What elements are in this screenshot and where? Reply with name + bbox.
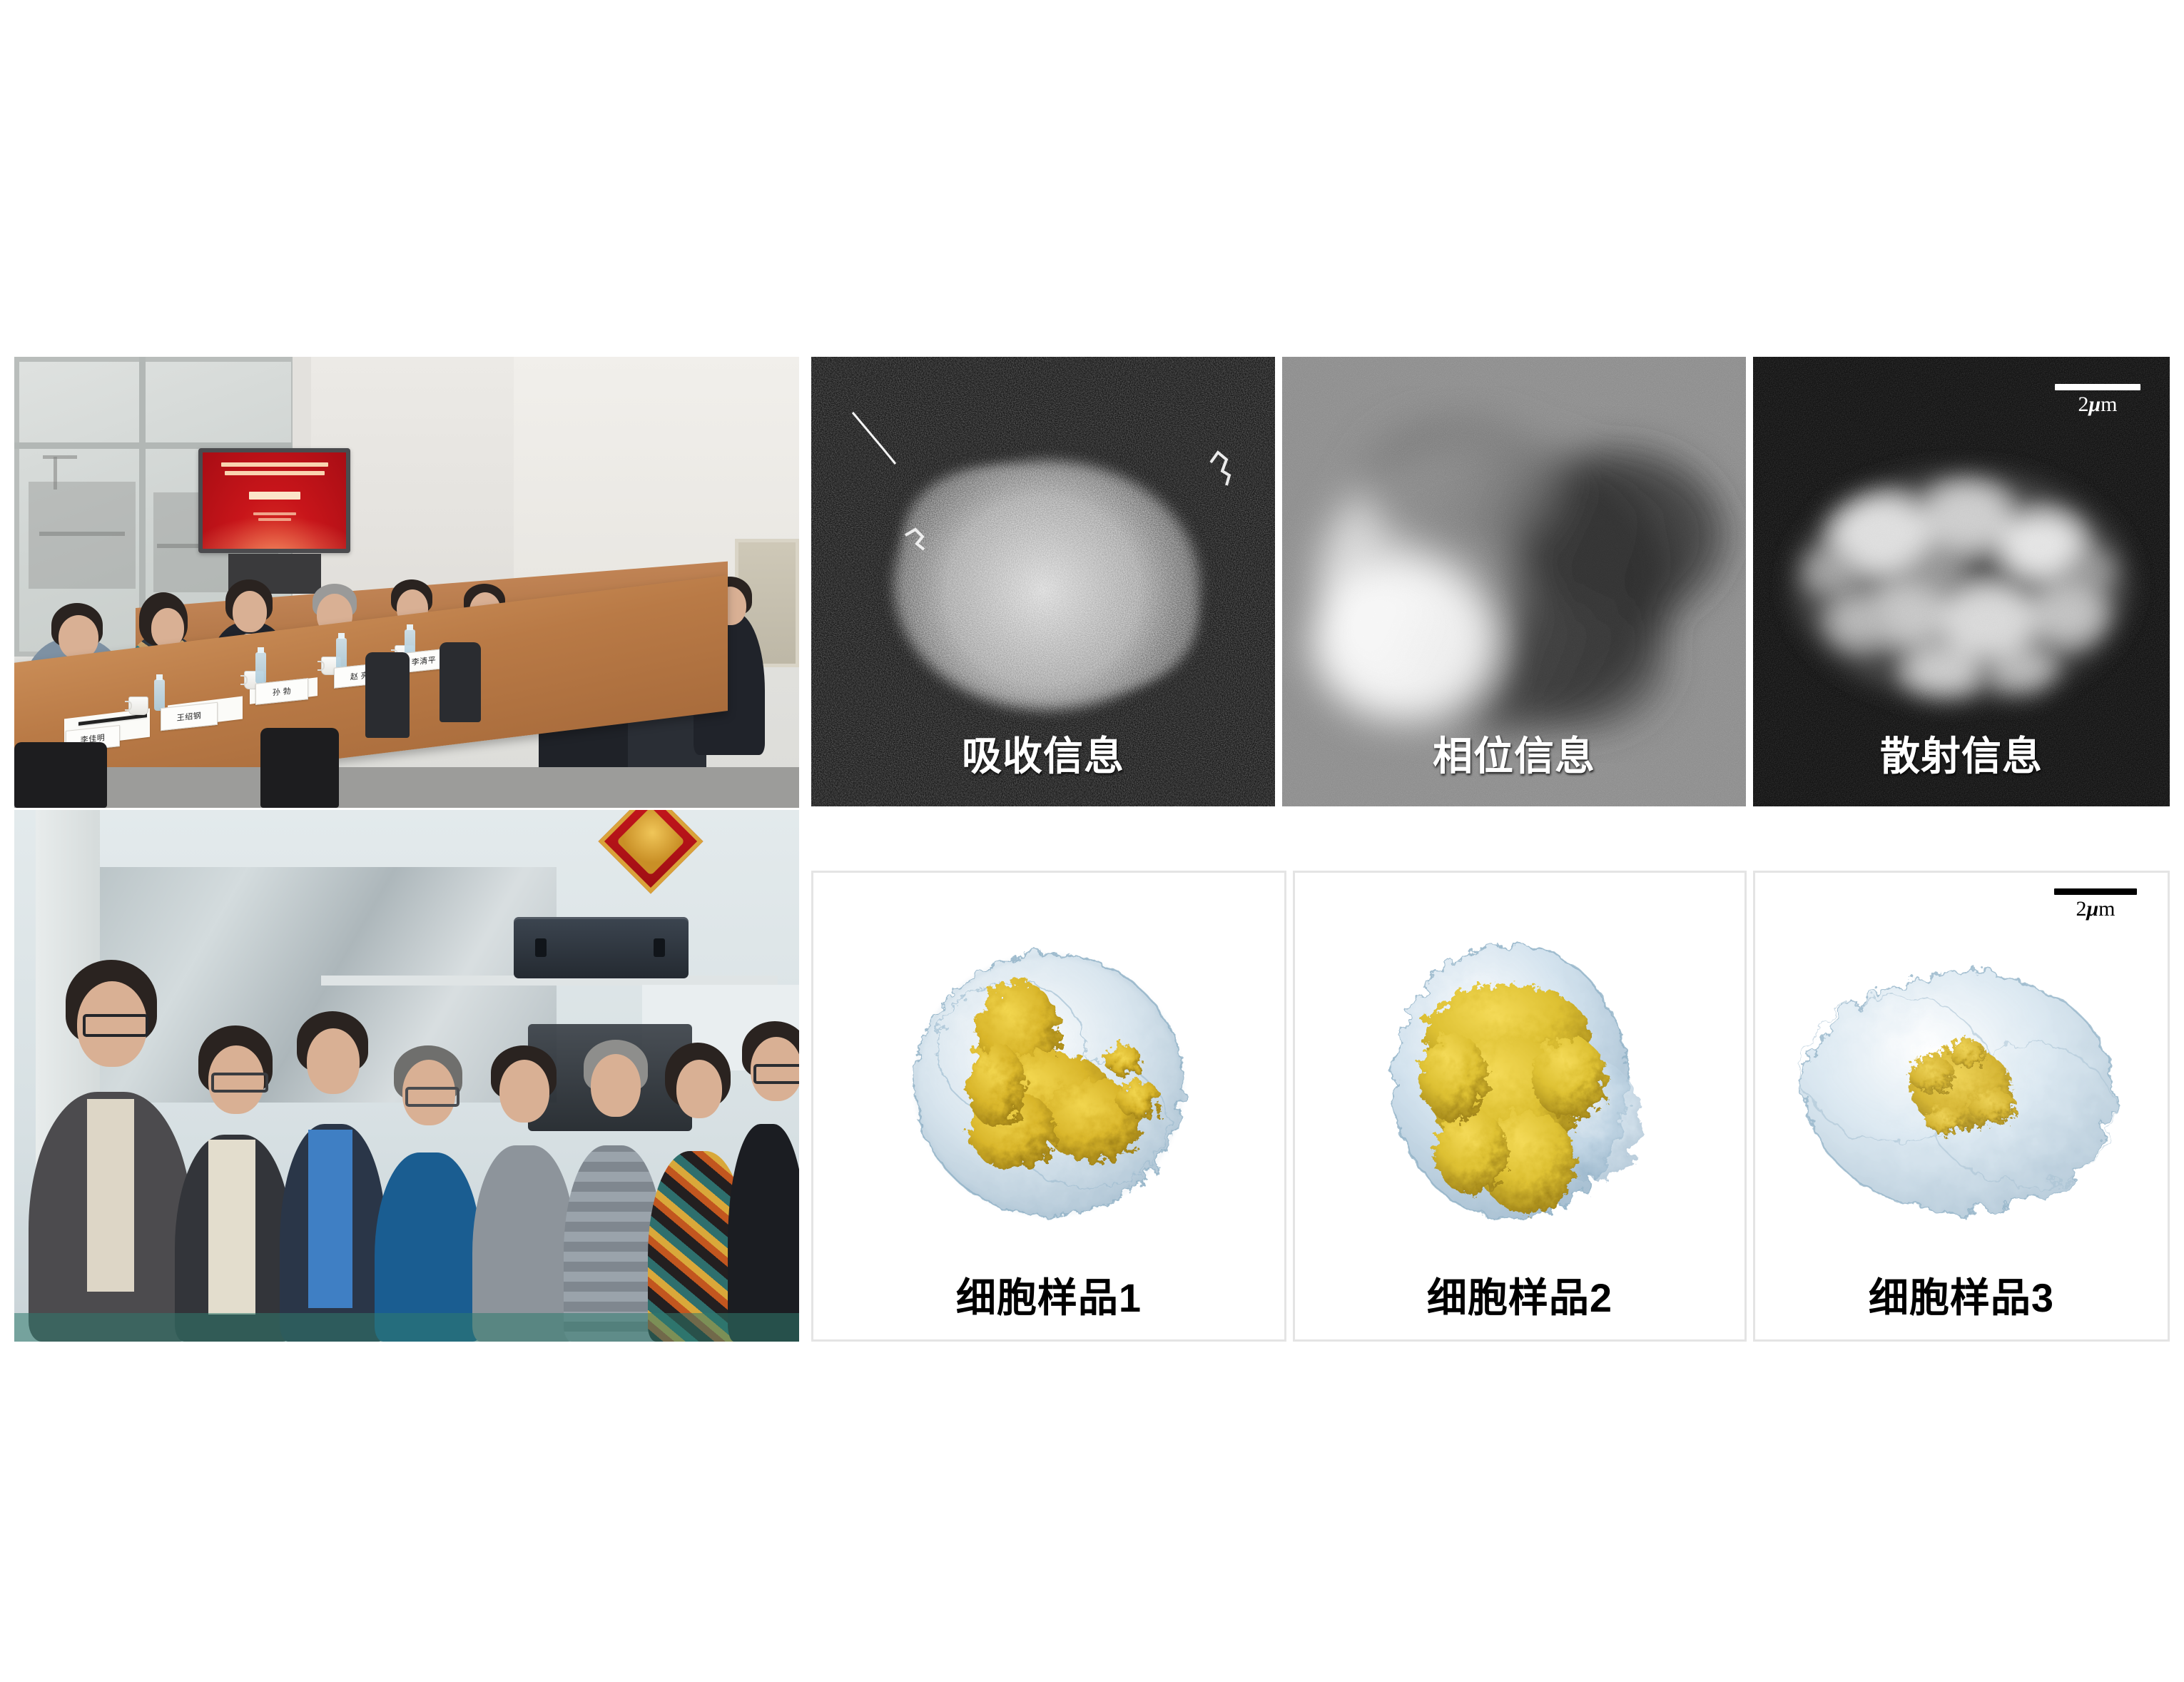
floor — [14, 767, 799, 808]
panel-cell-sample-1: 细胞样品1 — [811, 871, 1286, 1342]
equipment-case — [514, 917, 689, 978]
panel-label-phase: 相位信息 — [1282, 724, 1746, 782]
panel-absorption: 吸收信息 — [811, 357, 1275, 806]
lab-floor — [14, 1313, 799, 1342]
eyeglasses — [211, 1073, 268, 1093]
panel-label-cell-2: 细胞样品2 — [1295, 1266, 1744, 1324]
water-bottle — [154, 679, 165, 711]
scale-bar-value: 2 — [2078, 392, 2088, 416]
water-bottle — [255, 652, 266, 684]
panel-phase: 相位信息 — [1282, 357, 1746, 806]
office-chair — [260, 728, 339, 808]
scale-bar-unit: m — [2101, 392, 2117, 416]
office-chair — [365, 652, 410, 738]
water-bottle — [336, 638, 347, 669]
scale-bar-value: 2 — [2076, 897, 2086, 921]
scale-bar-line — [2055, 384, 2140, 390]
scale-bar-label: 2μm — [2042, 898, 2149, 921]
tea-cup — [128, 696, 148, 715]
panel-cell-sample-2: 细胞样品2 — [1293, 871, 1747, 1342]
panel-scattering: 2μm 散射信息 — [1753, 357, 2170, 806]
office-chair — [440, 642, 481, 722]
slide-subtext-line2 — [258, 518, 291, 521]
scale-bar-line — [2054, 888, 2137, 895]
slide-red-background — [203, 452, 346, 549]
presentation-screen — [198, 448, 350, 553]
eyeglasses — [405, 1087, 459, 1107]
photo-meeting-room: 王绍钢 李佳明 孙 勃 赵 亮 李清平 — [14, 357, 799, 808]
office-chair — [14, 742, 107, 808]
scale-bar-label: 2μm — [2044, 393, 2151, 416]
scale-bar-top: 2μm — [2044, 384, 2151, 416]
scale-bar-unit: m — [2098, 897, 2115, 921]
slide-subtext-line1 — [253, 512, 296, 515]
scale-bar-mu: μ — [2086, 897, 2098, 921]
eyeglasses — [753, 1064, 799, 1084]
slide-heading — [249, 492, 300, 500]
panel-label-cell-3: 细胞样品3 — [1755, 1266, 2168, 1324]
eyeglasses — [83, 1014, 148, 1037]
photo-lab-group — [14, 810, 799, 1342]
figure-canvas: 王绍钢 李佳明 孙 勃 赵 亮 李清平 — [0, 0, 2184, 1682]
slide-title-line2 — [225, 471, 325, 475]
scale-bar-bottom: 2μm — [2042, 888, 2149, 921]
slide-glow — [203, 510, 346, 549]
panel-label-scattering: 散射信息 — [1753, 724, 2170, 782]
panel-label-cell-1: 细胞样品1 — [813, 1266, 1284, 1324]
panel-cell-sample-3: 2μm 细胞样品3 — [1753, 871, 2170, 1342]
slide-title-line1 — [221, 462, 328, 467]
panel-label-absorption: 吸收信息 — [811, 724, 1275, 782]
scale-bar-mu: μ — [2088, 392, 2101, 416]
